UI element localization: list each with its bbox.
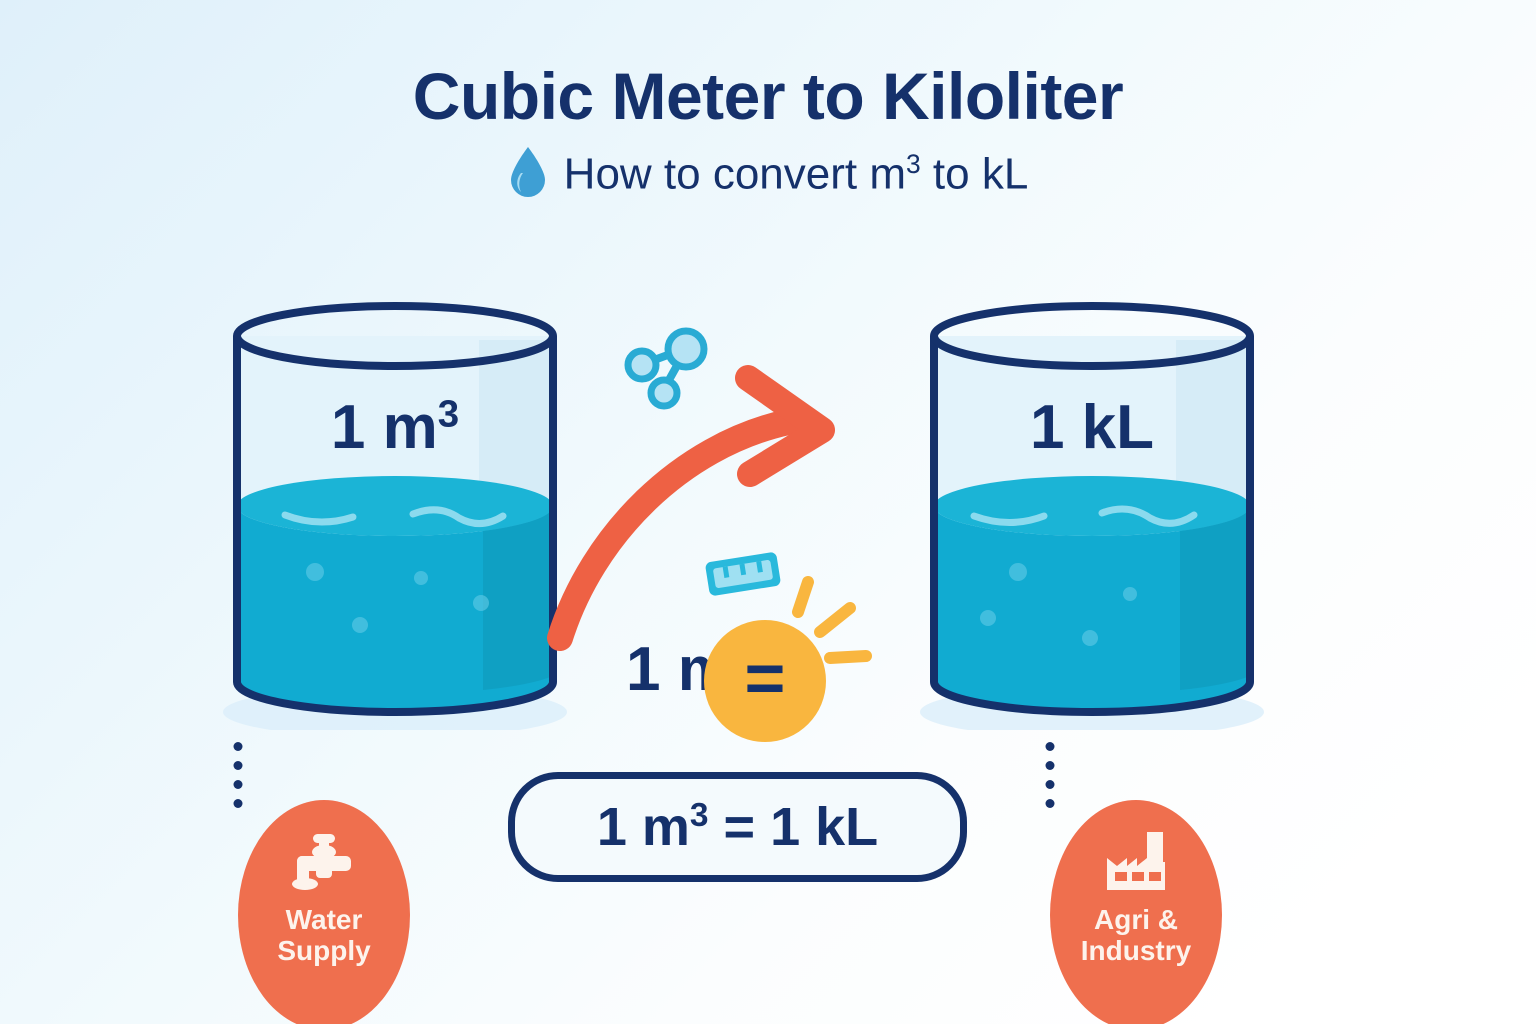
left-container-group: 1 m3 <box>215 300 575 730</box>
dot-connector-right <box>1046 742 1055 808</box>
connector-dot <box>234 742 243 751</box>
right-cylinder-icon <box>912 300 1272 730</box>
header: Cubic Meter to Kiloliter How to convert … <box>0 62 1536 204</box>
badge-label-agri-industry: Agri &Industry <box>1056 904 1216 967</box>
page-subtitle: How to convert m3 to kL <box>564 149 1029 200</box>
page-title: Cubic Meter to Kiloliter <box>0 62 1536 131</box>
connector-dot <box>234 799 243 808</box>
equals-badge-icon: = <box>704 620 826 742</box>
equals-glyph: = <box>745 643 786 713</box>
right-container-group: 1 kL <box>912 300 1272 730</box>
formula-text: 1 m3 = 1 kL <box>597 796 878 858</box>
factory-icon <box>1097 828 1175 898</box>
ruler-icon <box>697 541 789 607</box>
badge-bubble-agri-industry[interactable]: Agri &Industry <box>1050 800 1222 1024</box>
faucet-tap-icon <box>285 828 363 898</box>
molecule-network-icon <box>620 327 712 411</box>
connector-dot <box>1046 799 1055 808</box>
connector-dot <box>1046 742 1055 751</box>
left-cylinder-icon <box>215 300 575 730</box>
infographic-canvas: Cubic Meter to Kiloliter How to convert … <box>0 0 1536 1024</box>
subtitle-row: How to convert m3 to kL <box>0 145 1536 204</box>
dot-connector-left <box>234 742 243 808</box>
badge-bubble-water-supply[interactable]: WaterSupply <box>238 800 410 1024</box>
connector-dot <box>1046 761 1055 770</box>
formula-badge: 1 m3 = 1 kL <box>508 772 967 882</box>
badge-label-water-supply: WaterSupply <box>244 904 404 967</box>
connector-dot <box>1046 780 1055 789</box>
connector-dot <box>234 761 243 770</box>
connector-dot <box>234 780 243 789</box>
water-droplet-icon <box>508 145 548 204</box>
